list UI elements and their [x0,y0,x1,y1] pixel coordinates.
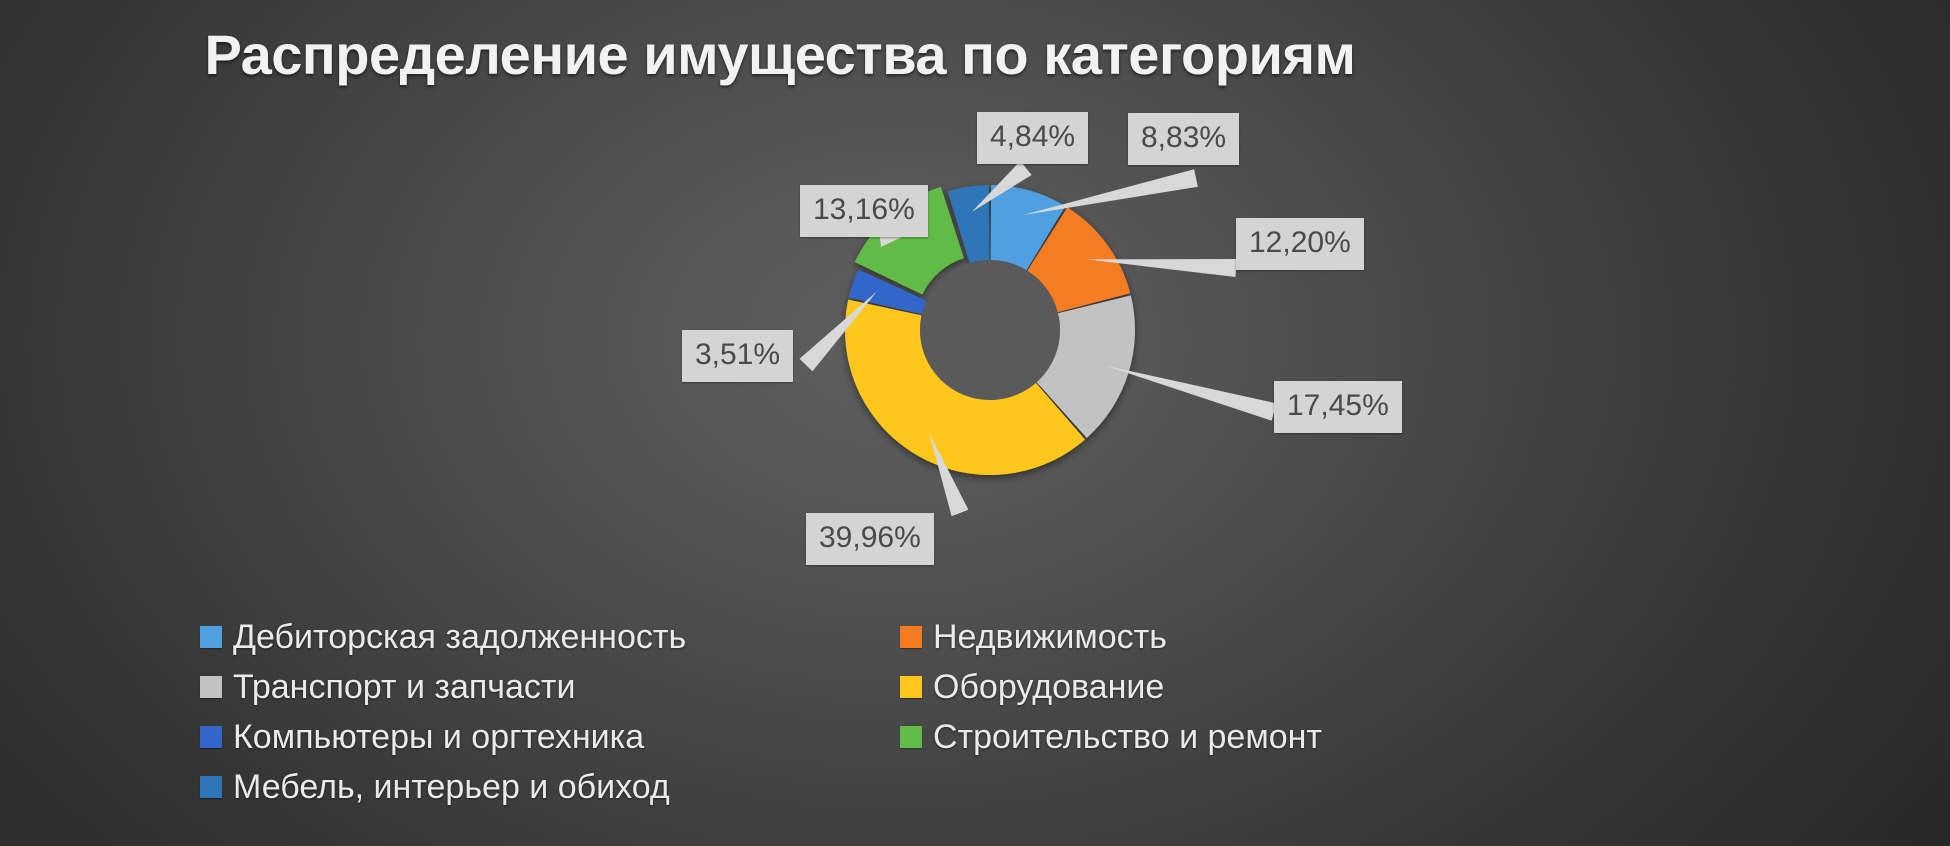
legend-item-realty[interactable]: Недвижимость [900,612,1600,662]
leader-line [1104,365,1276,420]
legend-item-construction[interactable]: Строительство и ремонт [900,712,1600,762]
legend-swatch-icon [200,726,222,748]
data-label-transport: 17,45% [1274,381,1402,433]
chart-legend: Дебиторская задолженность Недвижимость Т… [200,612,1620,812]
legend-item-computers[interactable]: Компьютеры и оргтехника [200,712,900,762]
legend-item-debit[interactable]: Дебиторская задолженность [200,612,900,662]
chart-canvas: Распределение имущества по категориям 4,… [0,0,1950,846]
legend-item-equipment[interactable]: Оборудование [900,662,1600,712]
legend-item-furniture[interactable]: Мебель, интерьер и обиход [200,762,900,812]
legend-item-label: Оборудование [933,668,1164,707]
legend-swatch-icon [200,676,222,698]
legend-item-label: Транспорт и запчасти [233,668,576,707]
legend-item-label: Недвижимость [933,618,1167,657]
data-label-computers: 3,51% [682,330,793,382]
legend-item-label: Компьютеры и оргтехника [233,718,644,757]
leader-line [1023,169,1198,215]
data-label-furniture: 4,84% [977,112,1088,164]
legend-item-label: Мебель, интерьер и обиход [233,768,670,807]
legend-swatch-icon [200,626,222,648]
legend-swatch-icon [200,776,222,798]
legend-item-transport[interactable]: Транспорт и запчасти [200,662,900,712]
legend-item-label: Строительство и ремонт [933,718,1322,757]
data-label-realty: 12,20% [1236,218,1364,270]
donut-center-hole [920,260,1060,400]
legend-swatch-icon [900,676,922,698]
data-label-construction: 13,16% [800,185,928,237]
legend-swatch-icon [900,726,922,748]
legend-swatch-icon [900,626,922,648]
data-label-equipment: 39,96% [806,513,934,565]
legend-item-label: Дебиторская задолженность [233,618,686,657]
data-label-debit: 8,83% [1128,113,1239,165]
